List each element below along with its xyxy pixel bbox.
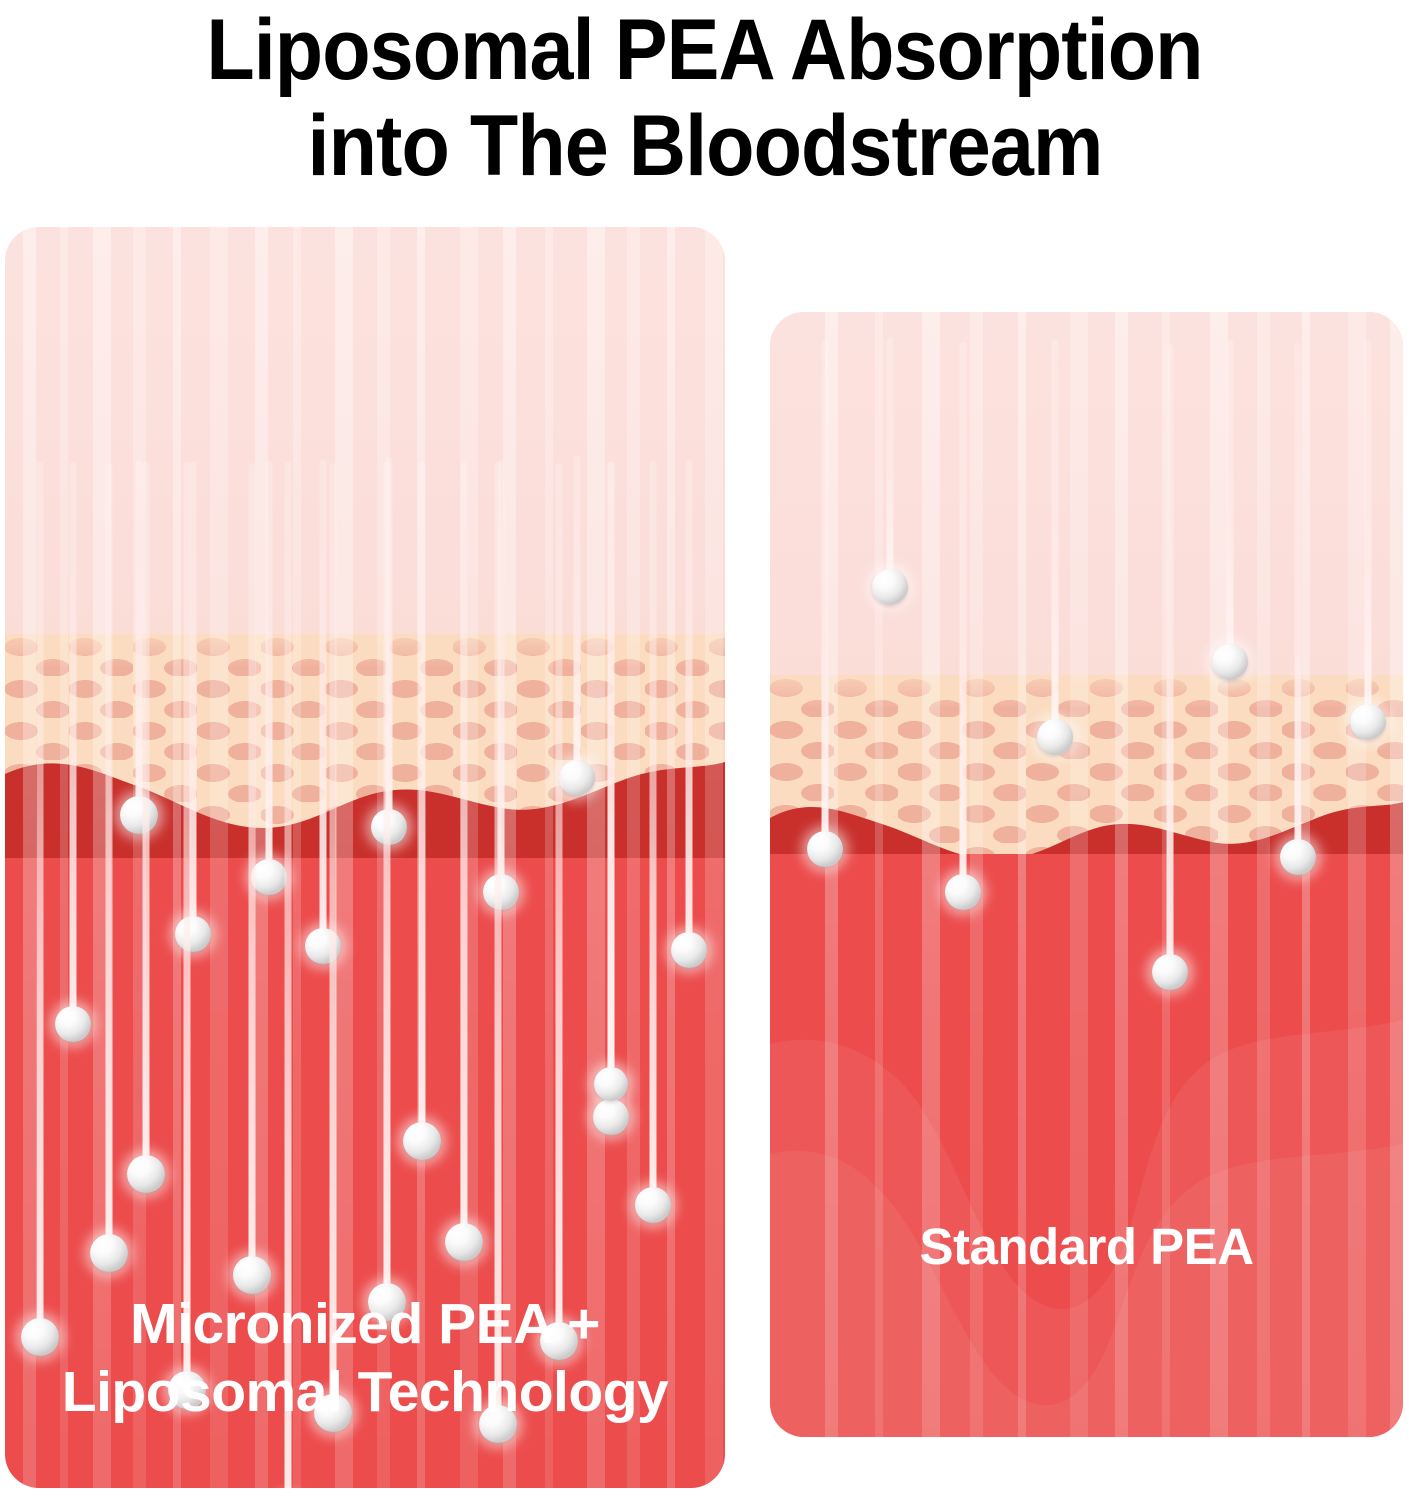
pea-particle (368, 1283, 406, 1321)
pea-particle (90, 1234, 128, 1272)
particle-trail (1227, 340, 1234, 662)
particle-trail (190, 461, 197, 934)
particle-trail (184, 462, 191, 1390)
particle-trail (266, 461, 273, 877)
particle-bead (872, 569, 908, 605)
particle-bead (635, 1187, 671, 1223)
particle-bead (1350, 704, 1386, 740)
particle-bead (233, 1256, 271, 1294)
pea-particle (314, 1394, 352, 1432)
particle-trail (37, 462, 44, 1337)
particle-trail (495, 462, 502, 1424)
particle-bead (593, 1099, 629, 1135)
particle-trail (249, 463, 256, 1275)
particle-bead (540, 1322, 578, 1360)
page-title-line-2: into The Bloodstream (307, 98, 1102, 194)
pea-particle (251, 859, 287, 895)
particle-bead (314, 1394, 352, 1432)
pea-particle (1280, 839, 1316, 875)
page-title-line-1: Liposomal PEA Absorption (206, 2, 1202, 98)
particle-trail (143, 462, 150, 1174)
pea-particle (807, 831, 843, 867)
particle-bead (251, 859, 287, 895)
particle-bead (120, 796, 158, 834)
particle-trail (1295, 343, 1302, 857)
pea-particle (635, 1187, 671, 1223)
particle-bead (807, 831, 843, 867)
particle-trail (1052, 339, 1059, 737)
particle-trail (136, 460, 143, 815)
particle-trail (574, 456, 581, 778)
pea-particle (1350, 704, 1386, 740)
particle-trail (1167, 344, 1174, 972)
pea-particle (1212, 644, 1248, 680)
particle-bead (55, 1006, 91, 1042)
particle-trail (887, 337, 894, 587)
particle-trail (320, 460, 327, 946)
panel-liposomal-pea: Micronized PEA + Liposomal Technology (5, 227, 725, 1488)
particle-trail (822, 341, 829, 849)
pea-particle (55, 1006, 91, 1042)
particle-bead (1280, 839, 1316, 875)
particle-bead (1212, 644, 1248, 680)
particle-trail (106, 463, 113, 1253)
pea-particle (1037, 719, 1073, 755)
particle-bead (594, 1067, 628, 1101)
particle-trail (608, 462, 615, 1084)
page-title: Liposomal PEA Absorption into The Bloods… (0, 0, 1409, 210)
particle-field-left (5, 227, 725, 1488)
pea-particle (127, 1155, 165, 1193)
pea-particle (872, 569, 908, 605)
particle-bead (21, 1318, 59, 1356)
particle-trail (1365, 340, 1372, 722)
particle-bead (1037, 719, 1073, 755)
pea-particle (945, 874, 981, 910)
pea-particle (479, 1405, 517, 1443)
pea-particle (120, 796, 158, 834)
particle-bead (945, 874, 981, 910)
pea-particle (445, 1223, 483, 1261)
particle-trail (285, 462, 292, 1488)
particle-trail (556, 463, 563, 1341)
pea-particle (403, 1122, 441, 1160)
pea-particle (21, 1318, 59, 1356)
particle-bead (90, 1234, 128, 1272)
particle-field-right (770, 312, 1403, 1437)
particle-bead (368, 1283, 406, 1321)
particle-trail (686, 460, 693, 950)
particle-trail (960, 342, 967, 892)
particle-bead (127, 1155, 165, 1193)
particle-trail (330, 463, 337, 1413)
particle-bead (445, 1223, 483, 1261)
pea-particle (175, 916, 211, 952)
particle-bead (559, 760, 595, 796)
pea-particle (593, 1099, 629, 1135)
pea-particle (168, 1371, 206, 1409)
particle-trail (419, 461, 426, 1141)
particle-trail (461, 462, 468, 1242)
particle-bead (175, 916, 211, 952)
panel-standard-pea: Standard PEA (770, 312, 1403, 1437)
pea-particle (671, 932, 707, 968)
pea-particle (233, 1256, 271, 1294)
pea-particle (540, 1322, 578, 1360)
pea-particle (559, 760, 595, 796)
particle-trail (650, 461, 657, 1205)
pea-particle (1152, 954, 1188, 990)
particle-trail (384, 462, 391, 1302)
particle-bead (671, 932, 707, 968)
particle-bead (403, 1122, 441, 1160)
particle-bead (168, 1371, 206, 1409)
pea-particle (594, 1067, 628, 1101)
particle-bead (479, 1405, 517, 1443)
particle-bead (1152, 954, 1188, 990)
particle-trail (70, 462, 77, 1024)
